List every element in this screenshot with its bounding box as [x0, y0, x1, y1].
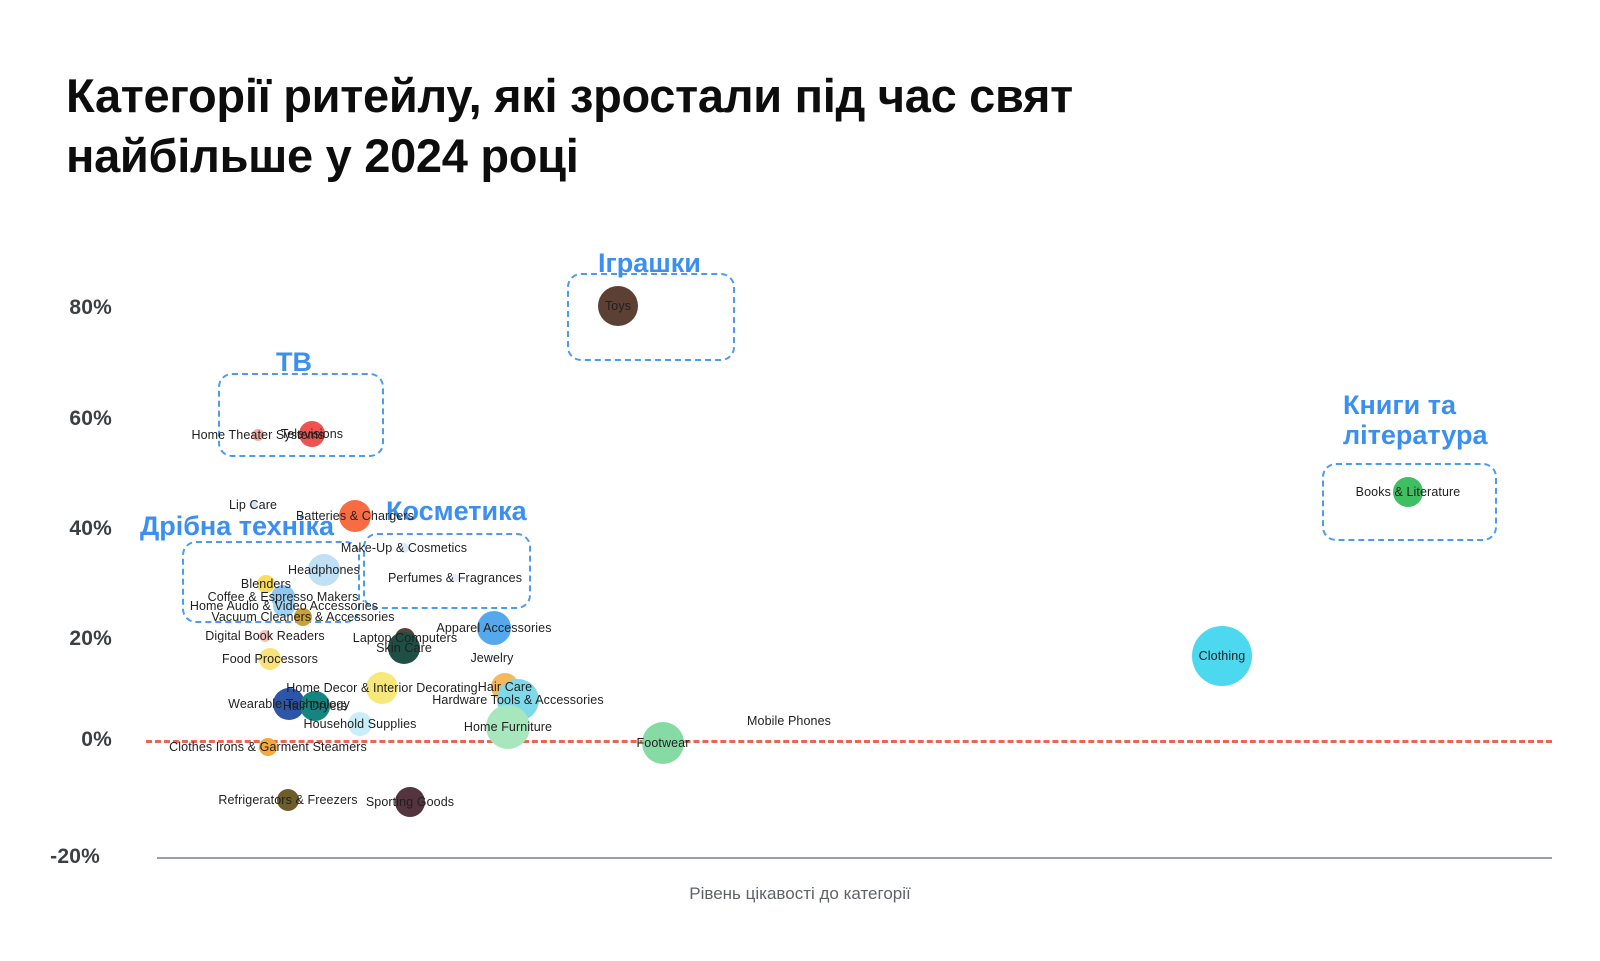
point-label: Hair Care	[478, 680, 532, 694]
point-label: Toys	[605, 299, 631, 313]
point-label: Food Processors	[222, 652, 318, 666]
point-label: Clothing	[1199, 649, 1246, 663]
point-label: Footwear	[637, 736, 690, 750]
point-label: Refrigerators & Freezers	[218, 793, 357, 807]
point-label: Blenders	[241, 577, 291, 591]
x-axis-label: Рівень цікавості до категорії	[0, 884, 1600, 904]
x-axis-line	[157, 857, 1552, 859]
cluster-title-toys: Іграшки	[598, 248, 701, 278]
point-label: Make-Up & Cosmetics	[341, 541, 467, 555]
point-label: Jewelry	[470, 651, 513, 665]
point-label: Digital Book Readers	[205, 629, 324, 643]
point-label: Home Furniture	[464, 720, 552, 734]
point-label: Hair Dryers	[283, 699, 347, 713]
cluster-title-tv: ТВ	[276, 347, 312, 377]
y-tick-60: 60%	[22, 407, 112, 431]
point-label: Vacuum Cleaners & Accessories	[211, 610, 394, 624]
y-tick-minus-20: -20%	[10, 845, 100, 869]
point-label: Mobile Phones	[747, 714, 831, 728]
cluster-box-tv	[218, 373, 384, 457]
point-label: Household Supplies	[304, 717, 417, 731]
point-label: Lip Care	[229, 498, 277, 512]
cluster-title-books: Книги та література	[1343, 390, 1487, 450]
point-label: Batteries & Chargers	[296, 509, 414, 523]
point-label: Books & Literature	[1356, 485, 1461, 499]
point-label: Clothes Irons & Garment Steamers	[169, 740, 367, 754]
point-label: Perfumes & Fragrances	[388, 571, 522, 585]
point-label: Hardware Tools & Accessories	[432, 693, 603, 707]
y-tick-80: 80%	[22, 296, 112, 320]
point-label: Sporting Goods	[366, 795, 454, 809]
y-tick-20: 20%	[22, 627, 112, 651]
bubble-chart: 80% 60% 40% 20% 0% -20% Рівень цікавості…	[0, 0, 1600, 961]
point-label: Televisions	[281, 427, 343, 441]
y-tick-0: 0%	[22, 728, 112, 752]
cluster-box-toys	[567, 273, 735, 361]
point-label: Headphones	[288, 563, 360, 577]
point-label: Skin Care	[376, 641, 432, 655]
y-tick-40: 40%	[22, 517, 112, 541]
